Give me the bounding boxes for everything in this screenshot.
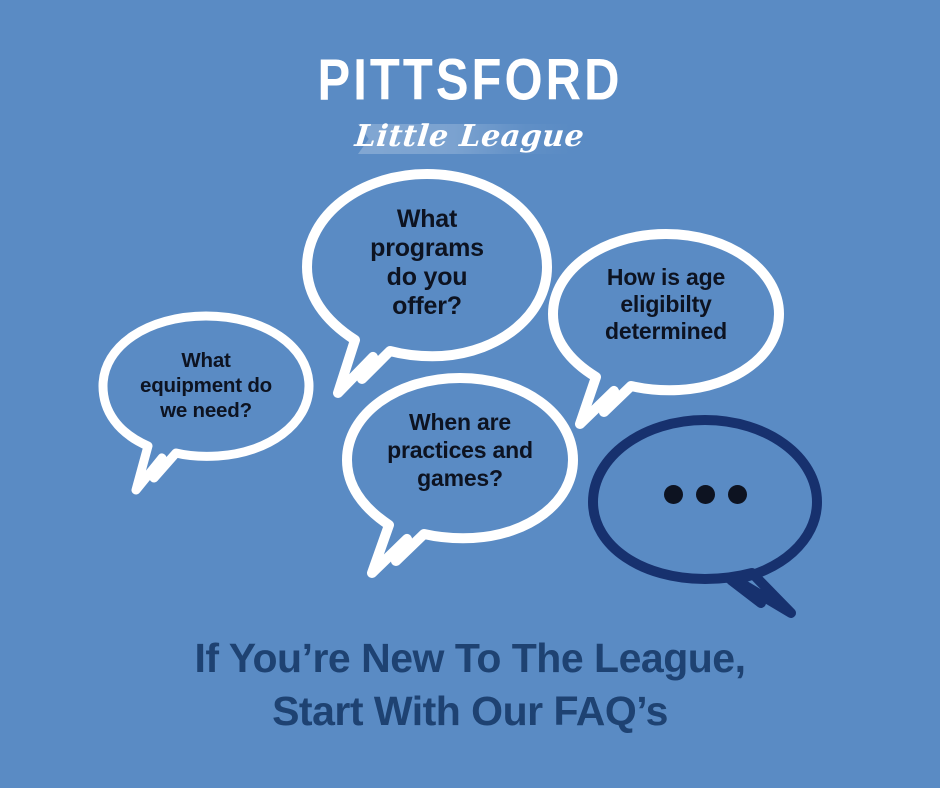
speech-bubble-ellipsis[interactable]: [586, 414, 824, 619]
speech-bubble-age-eligibility[interactable]: How is age eligibilty determined: [546, 228, 786, 428]
league-logo: PITTSFORD Little League: [0, 52, 940, 158]
speech-bubble-equipment[interactable]: What equipment do we need?: [96, 310, 316, 505]
bubble-line: practices and: [387, 436, 533, 464]
logo-subtitle: Little League: [354, 122, 586, 152]
logo-wordmark: PITTSFORD: [0, 52, 940, 111]
headline-line-2: Start With Our FAQ’s: [0, 685, 940, 738]
headline: If You’re New To The League, Start With …: [0, 632, 940, 738]
ellipsis-dots: [586, 414, 824, 574]
bubble-line: we need?: [160, 398, 252, 423]
speech-bubble-practices[interactable]: When are practices and games?: [340, 372, 580, 577]
logo-subtitle-wrap: Little League: [0, 122, 940, 158]
bubble-line: games?: [417, 464, 503, 492]
faq-poster: PITTSFORD Little League What equipment d…: [0, 0, 940, 788]
bubble-line: What: [397, 205, 457, 234]
bubble-line: programs: [370, 234, 484, 263]
speech-bubble-practices-text: When are practices and games?: [340, 372, 580, 527]
ribbon-banner-icon: [358, 124, 572, 154]
bubble-line: eligibilty: [620, 291, 711, 318]
bubble-line: determined: [605, 318, 727, 345]
bubble-line: When are: [409, 408, 511, 436]
speech-bubble-programs[interactable]: What programs do you offer?: [300, 168, 554, 403]
speech-bubble-programs-text: What programs do you offer?: [300, 168, 554, 358]
bubble-line: do you: [387, 263, 468, 292]
bubble-line: How is age: [607, 264, 725, 291]
bubble-line: offer?: [392, 292, 462, 321]
ellipsis-dot-icon: [728, 485, 747, 504]
speech-bubble-equipment-text: What equipment do we need?: [96, 310, 316, 460]
ellipsis-dot-icon: [696, 485, 715, 504]
speech-bubble-age-eligibility-text: How is age eligibilty determined: [546, 228, 786, 380]
ellipsis-dot-icon: [664, 485, 683, 504]
headline-line-1: If You’re New To The League,: [0, 632, 940, 685]
bubble-line: equipment do: [140, 373, 272, 398]
bubble-line: What: [181, 348, 230, 373]
